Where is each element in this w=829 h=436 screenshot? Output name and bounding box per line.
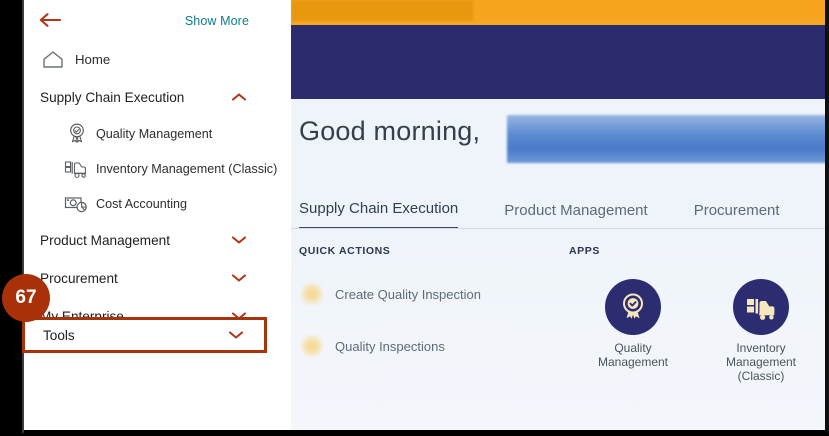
quick-action-create-quality-inspection[interactable]: Create Quality Inspection bbox=[299, 279, 559, 309]
top-orange-bar bbox=[291, 0, 825, 25]
sidebar-item-inventory-management-classic[interactable]: Inventory Management (Classic) bbox=[24, 151, 267, 186]
step-number-badge: 67 bbox=[2, 274, 50, 322]
quality-badge-icon bbox=[64, 122, 90, 146]
sidebar-item-label: Quality Management bbox=[96, 127, 212, 141]
user-name-redaction bbox=[507, 115, 825, 163]
app-tile-label: Inventory Management (Classic) bbox=[697, 341, 825, 383]
side-navigation-panel: Show More Home Supply Chain Execution bbox=[24, 0, 267, 432]
app-tile-label-line1: Inventory bbox=[697, 341, 825, 355]
app-tile-label-line2: Management bbox=[697, 355, 825, 369]
navy-header-band bbox=[291, 25, 825, 99]
sidebar-group-label: Supply Chain Execution bbox=[40, 90, 184, 105]
frame-right-edge bbox=[825, 0, 827, 432]
forklift-icon bbox=[64, 157, 90, 181]
app-tile-label-line2: Management bbox=[569, 355, 697, 369]
show-more-link[interactable]: Show More bbox=[185, 14, 253, 28]
sidebar-item-label: Home bbox=[75, 52, 110, 67]
apps-column: APPS bbox=[569, 245, 825, 383]
sidebar-group-product-management[interactable]: Product Management bbox=[24, 221, 267, 259]
app-tile-list: Quality Management bbox=[569, 279, 825, 383]
app-tile-inventory-management-classic[interactable]: Inventory Management (Classic) bbox=[697, 279, 825, 383]
quick-action-icon bbox=[299, 283, 325, 305]
home-icon bbox=[40, 47, 66, 71]
section-tabs: Supply Chain Execution Product Managemen… bbox=[291, 185, 825, 229]
frame-bottom-edge bbox=[24, 430, 827, 432]
sidebar-group-supply-chain-execution[interactable]: Supply Chain Execution bbox=[24, 78, 267, 116]
sidebar-group-label: Procurement bbox=[40, 271, 118, 286]
sidebar-group-tools-highlight: Tools bbox=[22, 317, 267, 353]
quick-action-label: Create Quality Inspection bbox=[335, 287, 481, 302]
sidebar-group-label: Product Management bbox=[40, 233, 170, 248]
quick-actions-title: QUICK ACTIONS bbox=[299, 245, 559, 257]
forklift-icon bbox=[733, 279, 789, 335]
quick-action-quality-inspections[interactable]: Quality Inspections bbox=[299, 331, 559, 361]
greeting-hero: Good morning, bbox=[291, 99, 825, 185]
quick-actions-column: QUICK ACTIONS Create Quality Inspection … bbox=[299, 245, 559, 361]
tab-procurement[interactable]: Procurement bbox=[694, 202, 780, 229]
chevron-down-icon bbox=[231, 235, 247, 245]
screenshot-root: Good morning, Supply Chain Execution Pro… bbox=[0, 0, 829, 436]
sidebar-group-label: Tools bbox=[43, 328, 75, 343]
chevron-up-icon bbox=[231, 92, 247, 102]
quality-badge-icon bbox=[605, 279, 661, 335]
back-arrow-icon[interactable] bbox=[38, 11, 64, 31]
quick-action-icon bbox=[299, 335, 325, 357]
sidebar-item-cost-accounting[interactable]: Cost Accounting bbox=[24, 186, 267, 221]
chevron-down-icon bbox=[231, 273, 247, 283]
tab-product-management[interactable]: Product Management bbox=[504, 202, 647, 229]
apps-title: APPS bbox=[569, 245, 825, 257]
app-tile-label: Quality Management bbox=[569, 341, 697, 369]
tab-supply-chain-execution[interactable]: Supply Chain Execution bbox=[299, 200, 458, 229]
top-bar-redacted-region bbox=[291, 0, 473, 21]
sidebar-item-home[interactable]: Home bbox=[24, 40, 267, 78]
side-navigation-header: Show More bbox=[24, 0, 267, 36]
sidebar-group-procurement[interactable]: Procurement bbox=[24, 259, 267, 297]
sidebar-item-label: Cost Accounting bbox=[96, 197, 187, 211]
greeting-text: Good morning, bbox=[299, 116, 480, 147]
chevron-down-icon bbox=[228, 330, 244, 340]
app-tile-quality-management[interactable]: Quality Management bbox=[569, 279, 697, 383]
quick-action-label: Quality Inspections bbox=[335, 339, 445, 354]
main-app-area: Good morning, Supply Chain Execution Pro… bbox=[291, 0, 825, 430]
cost-accounting-icon bbox=[64, 192, 90, 216]
app-tile-label-line3: (Classic) bbox=[697, 369, 825, 383]
sidebar-item-quality-management[interactable]: Quality Management bbox=[24, 116, 267, 151]
sidebar-group-tools[interactable]: Tools bbox=[25, 320, 264, 350]
sidebar-item-label: Inventory Management (Classic) bbox=[96, 162, 277, 176]
tab-content-panel: QUICK ACTIONS Create Quality Inspection … bbox=[291, 229, 825, 430]
app-tile-label-line1: Quality bbox=[569, 341, 697, 355]
top-bar-edge bbox=[291, 22, 825, 25]
